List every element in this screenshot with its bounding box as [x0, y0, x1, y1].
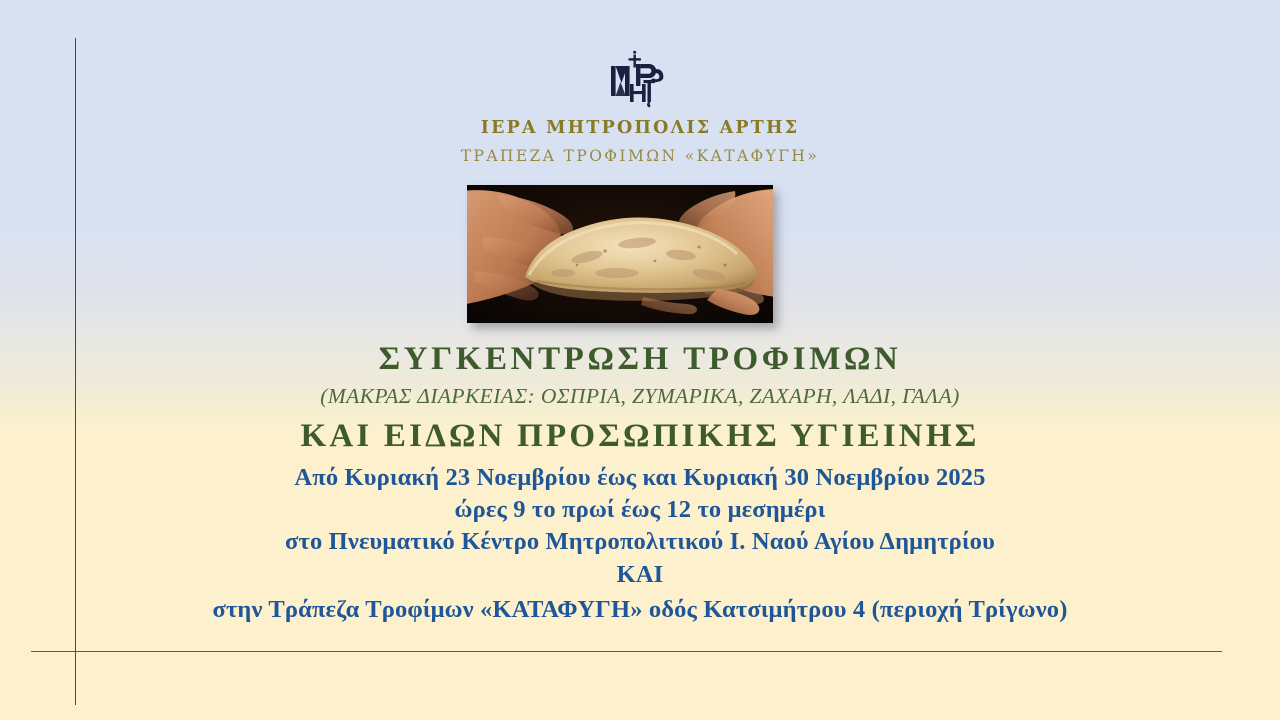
poster-body: ΣΥΓΚΕΝΤΡΩΣΗ ΤΡΟΦΙΜΩΝ (ΜΑΚΡΑΣ ΔΙΑΡΚΕΙΑΣ: … [0, 340, 1280, 626]
poster-subtitle: (ΜΑΚΡΑΣ ΔΙΑΡΚΕΙΑΣ: ΟΣΠΡΙΑ, ΖΥΜΑΡΙΚΑ, ΖΑΧ… [0, 383, 1280, 411]
event-location-primary: στο Πνευματικό Κέντρο Μητροπολιτικού Ι. … [0, 526, 1280, 558]
food-bank-name: ΤΡΑΠΕΖΑ ΤΡΟΦΙΜΩΝ «ΚΑΤΑΦΥΓΗ» [0, 147, 1280, 166]
bread-photo-graphic [467, 185, 773, 323]
location-conjunction: ΚΑΙ [0, 559, 1280, 591]
organization-name: ΙΕΡΑ ΜΗΤΡΟΠΟΛΙΣ ΑΡΤΗΣ [0, 118, 1280, 140]
poster-title: ΣΥΓΚΕΝΤΡΩΣΗ ΤΡΟΦΙΜΩΝ [0, 340, 1280, 379]
poster-header: ΙΕΡΑ ΜΗΤΡΟΠΟΛΙΣ ΑΡΤΗΣ ΤΡΑΠΕΖΑ ΤΡΟΦΙΜΩΝ «… [0, 48, 1280, 166]
horizontal-rule [31, 651, 1222, 652]
bread-in-hands-photo [467, 185, 773, 323]
event-hours: ώρες 9 το πρωί έως 12 το μεσημέρι [0, 494, 1280, 526]
event-dates: Από Κυριακή 23 Νοεμβρίου έως και Κυριακή… [0, 462, 1280, 494]
byzantine-monogram-emblem [0, 48, 1280, 110]
event-location-secondary: στην Τράπεζα Τροφίμων «ΚΑΤΑΦΥΓΗ» οδός Κα… [0, 594, 1280, 626]
poster-title-secondary: ΚΑΙ ΕΙΔΩΝ ΠΡΟΣΩΠΙΚΗΣ ΥΓΙΕΙΝΗΣ [0, 417, 1280, 456]
